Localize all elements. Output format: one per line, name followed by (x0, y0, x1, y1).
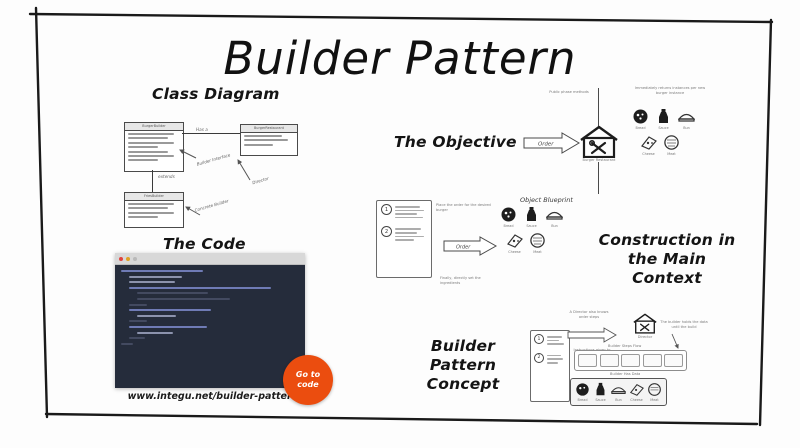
section-label-class-diagram: Class Diagram (152, 85, 280, 104)
construction-blueprint-heading: Object Blueprint (520, 196, 573, 204)
ingredient-bun: Bun (546, 206, 563, 228)
maximize-icon[interactable] (133, 257, 137, 261)
concept-label-line1: Builder Pattern (398, 337, 528, 375)
builder-step-slot (643, 354, 662, 367)
minimize-icon[interactable] (126, 257, 130, 261)
ingredient-label: Bread (504, 224, 514, 228)
step-text (395, 204, 427, 220)
restaurant-caption-concept: Director (626, 335, 664, 340)
ingredient-label: Meat (533, 250, 541, 254)
section-label-concept: Builder Pattern Concept (398, 337, 528, 394)
construction-label-line1: Construction in (592, 231, 742, 250)
ingredient-label: Sauce (595, 398, 605, 402)
construction-label-line2: the Main Context (592, 250, 742, 288)
close-icon[interactable] (119, 257, 123, 261)
ingredient-cheese: Cheese (640, 134, 657, 156)
construction-card-item: 2 (377, 223, 431, 245)
ingredient-label: Meat (650, 398, 658, 402)
builder-data-row: Bread Sauce Bun Cheese Meat (570, 378, 667, 406)
objective-divider-top (598, 88, 599, 126)
step-number: 2 (381, 226, 392, 237)
go-to-code-badge[interactable]: Go to code (283, 355, 333, 405)
construction-step1-note: Place the order for the desired burger (436, 203, 492, 213)
ingredient-meat: Meat (529, 232, 546, 254)
ingredient-sauce: Sauce (523, 206, 540, 228)
ingredient-label: Sauce (658, 126, 668, 130)
code-editor-window[interactable] (115, 253, 305, 388)
code-window-titlebar (115, 253, 305, 265)
ingredient-sauce: Sauce (593, 382, 608, 402)
ingredient-cheese: Cheese (506, 232, 523, 254)
builder-step-slot (621, 354, 640, 367)
ingredient-label: Meat (667, 152, 675, 156)
section-label-the-code: The Code (163, 235, 246, 254)
ingredient-meat: Meat (663, 134, 680, 156)
construction-steps-card: 1 2 (376, 200, 432, 278)
objective-divider-bottom (598, 162, 599, 194)
ingredient-label: Bread (636, 126, 646, 130)
builder-row-caption: Builder Steps Flow (608, 344, 641, 348)
badge-line-2: code (297, 380, 318, 390)
ingredient-label: Bun (551, 224, 558, 228)
ingredient-bread: Bread (575, 382, 590, 402)
ingredient-cheese: Cheese (629, 382, 644, 402)
uml-annotation-arrows (100, 110, 320, 230)
order-arrow-label: Order (456, 245, 471, 251)
restaurant-caption-objective: Burger Restaurant (566, 158, 632, 163)
objective-top-note: Public phase methods (540, 90, 598, 95)
ingredient-meat: Meat (647, 382, 662, 402)
section-label-construction: Construction in the Main Context (592, 231, 742, 288)
step-text (395, 226, 427, 242)
section-label-the-objective: The Objective (394, 133, 517, 152)
ingredient-label: Cheese (630, 398, 643, 402)
ingredient-bun: Bun (611, 382, 626, 402)
construction-ingredient-grid: Bread Sauce Bun Cheese Meat (500, 206, 582, 254)
objective-ingredient-grid: Bread Sauce Bun Cheese Meat (632, 108, 708, 156)
code-editor-content[interactable] (115, 265, 305, 353)
builder-steps-row (574, 350, 687, 371)
order-arrow-label: Order (538, 142, 554, 148)
builder-step-slot (664, 354, 683, 367)
ingredient-bread: Bread (632, 108, 649, 130)
order-arrow-construction: Order (442, 236, 498, 256)
step-number: 1 (534, 334, 544, 344)
construction-card-item: 1 (377, 201, 431, 223)
step-number: 2 (534, 353, 544, 363)
step-number: 1 (381, 204, 392, 215)
ingredient-label: Cheese (508, 250, 521, 254)
objective-right-note: Immediately returns instances per new bu… (634, 86, 706, 96)
badge-line-1: Go to (296, 370, 320, 380)
ingredient-label: Bun (615, 398, 622, 402)
data-row-caption: Builder Has Data (610, 372, 640, 376)
ingredient-label: Bun (683, 126, 690, 130)
concept-label-line2: Concept (398, 375, 528, 394)
ingredient-bun: Bun (678, 108, 695, 130)
restaurant-icon-objective (578, 124, 620, 162)
builder-step-slot (578, 354, 597, 367)
ingredient-label: Cheese (642, 152, 655, 156)
ingredient-label: Sauce (526, 224, 536, 228)
ingredient-sauce: Sauce (655, 108, 672, 130)
infographic-canvas: Builder Pattern Class Diagram BurgerBuil… (0, 0, 800, 448)
source-url[interactable]: www.integu.net/builder-pattern (118, 391, 308, 402)
builder-step-slot (600, 354, 619, 367)
ingredient-label: Bread (578, 398, 588, 402)
order-arrow-objective: Order (522, 132, 582, 154)
construction-step2-note: Finally, directly set the ingredients (440, 276, 498, 286)
ingredient-bread: Bread (500, 206, 517, 228)
page-title: Builder Pattern (0, 32, 800, 85)
